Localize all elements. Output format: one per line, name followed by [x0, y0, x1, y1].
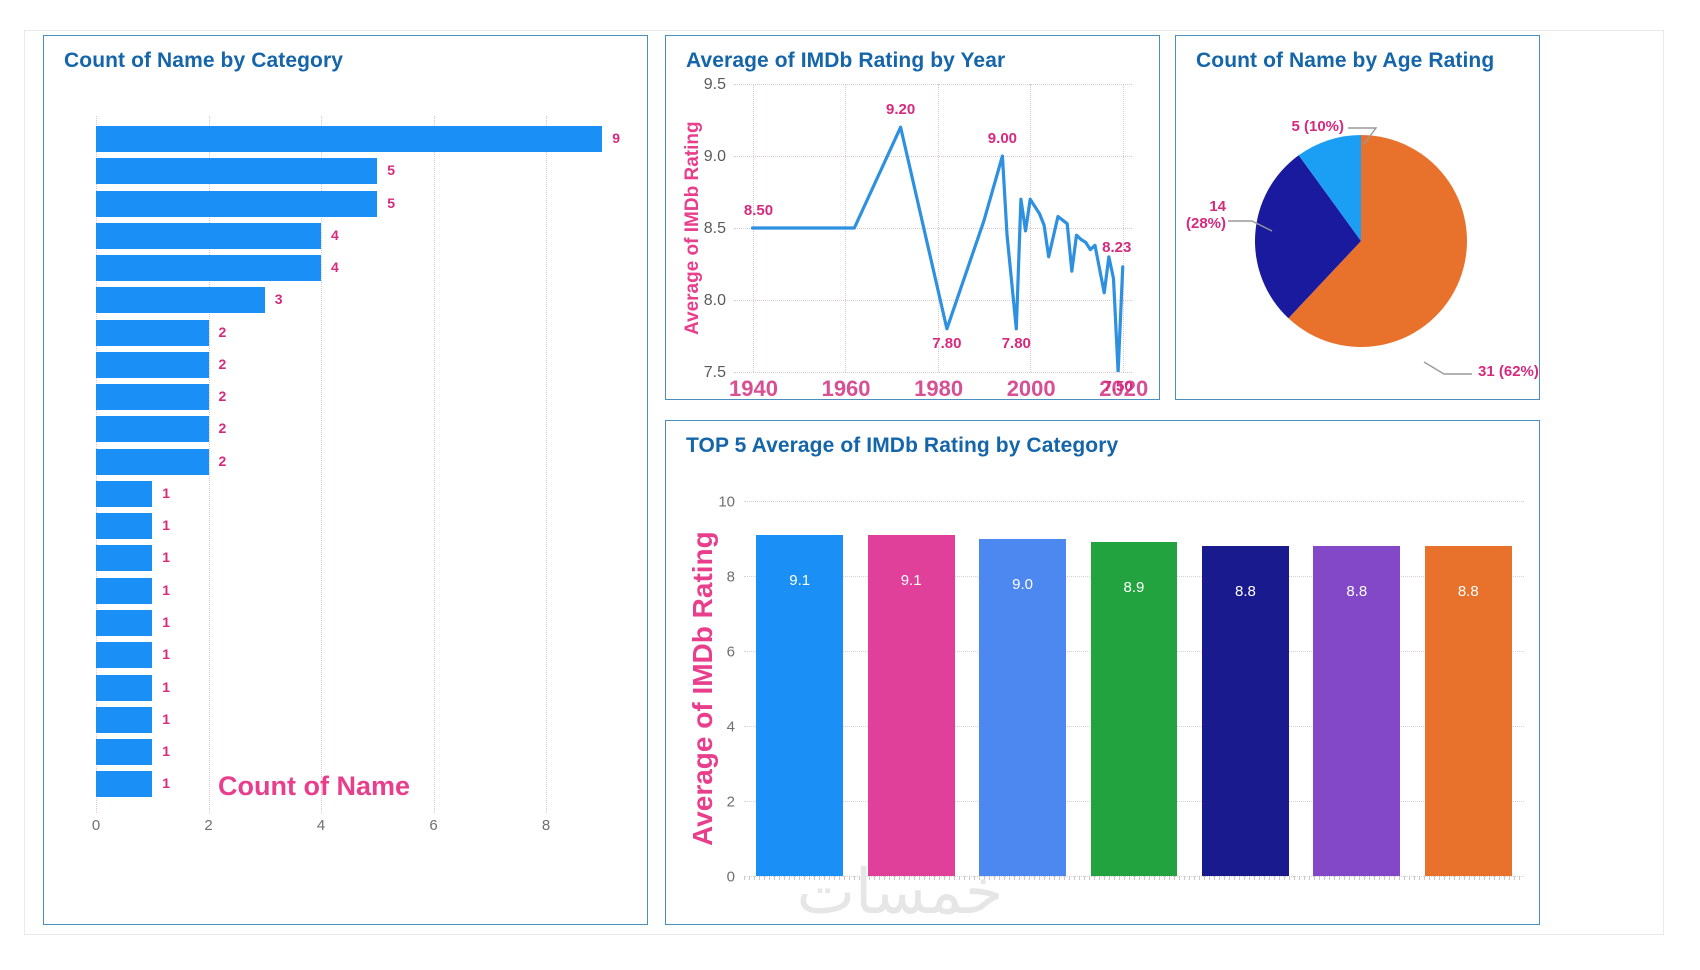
- table-row[interactable]: 3: [96, 287, 636, 313]
- y-tick-label: 8.0: [704, 292, 726, 310]
- y-tick-label: 9.0: [704, 148, 726, 166]
- bar-value-label: 1: [162, 517, 170, 533]
- x-tick-label: 1960: [822, 376, 871, 402]
- line-point-label: 7.80: [932, 335, 961, 352]
- bar-count-of-name[interactable]: [96, 578, 152, 604]
- panel-count-of-name-by-category[interactable]: Count of Name by Category 95544322222111…: [43, 35, 648, 925]
- bar-count-of-name[interactable]: [96, 449, 209, 475]
- table-row[interactable]: 1: [96, 545, 636, 571]
- bar-count-of-name[interactable]: [96, 545, 152, 571]
- panel-average-imdb-rating-by-year[interactable]: Average of IMDb Rating by Year Average o…: [665, 35, 1160, 400]
- bar-average-imdb-rating[interactable]: 8.8: [1313, 546, 1400, 876]
- panel-title-top5-avg-rating: TOP 5 Average of IMDb Rating by Category: [686, 434, 1118, 458]
- bar-count-of-name[interactable]: [96, 191, 377, 217]
- y-tick-label: 10: [718, 494, 735, 511]
- bar-count-of-name[interactable]: [96, 158, 377, 184]
- bar-value-label: 1: [162, 711, 170, 727]
- table-row[interactable]: 2: [96, 320, 636, 346]
- bar-count-of-name[interactable]: [96, 352, 209, 378]
- x-axis-count-of-name: 02468: [96, 813, 636, 814]
- bar-value-label: 1: [162, 614, 170, 630]
- line-point-label: 9.00: [988, 130, 1017, 147]
- bar-value-label: 1: [162, 485, 170, 501]
- bar-count-of-name[interactable]: [96, 287, 265, 313]
- x-tick-label: 1940: [729, 376, 778, 402]
- bar-value-label: 4: [331, 259, 339, 275]
- bar-count-of-name[interactable]: [96, 255, 321, 281]
- bar-average-imdb-rating[interactable]: 9.0: [979, 539, 1066, 877]
- axis-label-count-of-name: Count of Name: [44, 771, 584, 802]
- y-tick-label: 8.5: [704, 220, 726, 238]
- bar-value-label: 1: [162, 549, 170, 565]
- table-row[interactable]: 1: [96, 513, 636, 539]
- bar-average-imdb-rating[interactable]: 9.1: [756, 535, 843, 876]
- table-row[interactable]: 1: [96, 642, 636, 668]
- gridline-horizontal: 10: [744, 501, 1524, 502]
- pie-slice-label: 31 (62%): [1478, 363, 1539, 380]
- bar-value-label: 9: [612, 130, 620, 146]
- bar-value-label: 3: [275, 291, 283, 307]
- y-tick-label: 7.5: [704, 364, 726, 382]
- bar-value-label: 9.1: [756, 572, 843, 589]
- bar-average-imdb-rating[interactable]: 8.9: [1091, 542, 1178, 876]
- bar-value-label: 2: [219, 356, 227, 372]
- bar-value-label: 2: [219, 420, 227, 436]
- x-tick-label: 1980: [914, 376, 963, 402]
- table-row[interactable]: 5: [96, 158, 636, 184]
- bar-value-label: 8.8: [1202, 583, 1289, 600]
- top5-x-axis: [744, 876, 1524, 880]
- bar-count-of-name[interactable]: [96, 675, 152, 701]
- gridline-horizontal: 7.5: [734, 372, 1132, 373]
- bar-value-label: 9.0: [979, 576, 1066, 593]
- bar-value-label: 8.8: [1313, 583, 1400, 600]
- chart-top5-average-imdb-rating[interactable]: 02468109.19.19.08.98.88.88.8: [744, 501, 1524, 876]
- axis-label-top5-average-imdb-rating: Average of IMDb Rating: [686, 501, 720, 876]
- bar-count-of-name[interactable]: [96, 481, 152, 507]
- table-row[interactable]: 2: [96, 416, 636, 442]
- bar-count-of-name[interactable]: [96, 223, 321, 249]
- pie-slice-label: 5 (10%): [1234, 118, 1344, 135]
- bar-value-label: 1: [162, 582, 170, 598]
- chart-count-by-age-rating[interactable]: 31 (62%)14 (28%)5 (10%): [1176, 36, 1541, 401]
- bar-value-label: 5: [387, 162, 395, 178]
- bar-count-of-name[interactable]: [96, 513, 152, 539]
- pie-slices-group[interactable]: [1176, 36, 1541, 401]
- y-tick-label: 0: [727, 869, 735, 886]
- table-row[interactable]: 4: [96, 255, 636, 281]
- line-point-label: 7.50: [1104, 378, 1133, 395]
- bar-value-label: 4: [331, 227, 339, 243]
- y-tick-label: 8: [727, 569, 735, 586]
- y-tick-label: 9.5: [704, 76, 726, 94]
- panel-count-of-name-by-age-rating[interactable]: Count of Name by Age Rating 31 (62%)14 (…: [1175, 35, 1540, 400]
- pie-slice-label: 14 (28%): [1182, 198, 1226, 233]
- panel-title-avg-rating-by-year: Average of IMDb Rating by Year: [686, 49, 1005, 73]
- x-tick-label: 8: [542, 817, 550, 834]
- table-row[interactable]: 2: [96, 384, 636, 410]
- pie-leader-line: [1424, 362, 1472, 374]
- table-row[interactable]: 5: [96, 191, 636, 217]
- bar-count-of-name[interactable]: [96, 739, 152, 765]
- line-series-average-imdb-rating[interactable]: [734, 84, 1132, 372]
- bar-count-of-name[interactable]: [96, 416, 209, 442]
- table-row[interactable]: 1: [96, 578, 636, 604]
- bar-count-of-name[interactable]: [96, 384, 209, 410]
- axis-label-average-imdb-rating: Average of IMDb Rating: [680, 84, 706, 372]
- x-tick-label: 2: [204, 817, 212, 834]
- bar-value-label: 1: [162, 646, 170, 662]
- bar-value-label: 8.9: [1091, 579, 1178, 596]
- table-row[interactable]: 4: [96, 223, 636, 249]
- x-tick-label: 0: [92, 817, 100, 834]
- bar-count-of-name[interactable]: [96, 320, 209, 346]
- table-row[interactable]: 1: [96, 675, 636, 701]
- bar-value-label: 1: [162, 679, 170, 695]
- bar-average-imdb-rating[interactable]: 8.8: [1425, 546, 1512, 876]
- table-row[interactable]: 1: [96, 481, 636, 507]
- bar-count-of-name[interactable]: [96, 707, 152, 733]
- x-tick-label: 6: [429, 817, 437, 834]
- table-row[interactable]: 2: [96, 449, 636, 475]
- bar-count-of-name[interactable]: [96, 642, 152, 668]
- bar-value-label: 8.8: [1425, 583, 1512, 600]
- dashboard-root: Count of Name by Category 95544322222111…: [0, 0, 1700, 970]
- y-tick-label: 4: [727, 719, 735, 736]
- table-row[interactable]: 2: [96, 352, 636, 378]
- bar-value-label: 2: [219, 453, 227, 469]
- bar-value-label: 5: [387, 195, 395, 211]
- panel-title-count-by-category: Count of Name by Category: [64, 49, 343, 73]
- table-row[interactable]: 1: [96, 739, 636, 765]
- bar-value-label: 2: [219, 388, 227, 404]
- bar-average-imdb-rating[interactable]: 9.1: [868, 535, 955, 876]
- table-row[interactable]: 1: [96, 707, 636, 733]
- bar-count-of-name[interactable]: [96, 126, 602, 152]
- bar-value-label: 9.1: [868, 572, 955, 589]
- line-point-label: 8.23: [1102, 239, 1131, 256]
- bar-value-label: 1: [162, 743, 170, 759]
- x-tick-label: 4: [317, 817, 325, 834]
- panel-top5-average-imdb-rating-by-category[interactable]: TOP 5 Average of IMDb Rating by Category…: [665, 420, 1540, 925]
- line-point-label: 9.20: [886, 101, 915, 118]
- line-point-label: 8.50: [744, 202, 773, 219]
- line-point-label: 7.80: [1002, 335, 1031, 352]
- bar-count-of-name[interactable]: [96, 610, 152, 636]
- bar-value-label: 2: [219, 324, 227, 340]
- table-row[interactable]: 9: [96, 126, 636, 152]
- bar-average-imdb-rating[interactable]: 8.8: [1202, 546, 1289, 876]
- y-tick-label: 6: [727, 644, 735, 661]
- y-tick-label: 2: [727, 794, 735, 811]
- chart-average-imdb-rating-by-year[interactable]: 7.58.08.59.09.5194019601980200020208.509…: [734, 84, 1132, 372]
- x-tick-label: 2000: [1007, 376, 1056, 402]
- table-row[interactable]: 1: [96, 610, 636, 636]
